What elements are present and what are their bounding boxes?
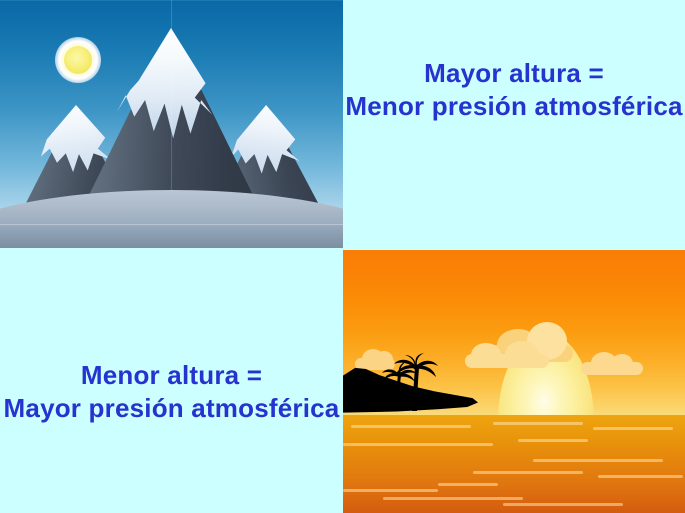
wave-streak (351, 425, 471, 428)
caption-high-altitude-line2: Menor presión atmosférica (343, 90, 685, 123)
wave-streak (438, 483, 498, 486)
mountain-ground (0, 190, 343, 248)
palm-tree-right-icon (393, 353, 439, 415)
caption-low-altitude-line1: Menor altura = (0, 359, 343, 392)
wave-streak (598, 475, 683, 478)
wave-streak (518, 439, 588, 442)
beach-sunset-image (343, 250, 685, 513)
sea (343, 415, 685, 513)
caption-panel-bottom-left: Menor altura = Mayor presión atmosférica (0, 248, 343, 513)
caption-low-altitude: Menor altura = Mayor presión atmosférica (0, 359, 343, 425)
caption-high-altitude-line1: Mayor altura = (343, 57, 685, 90)
wave-streak (383, 497, 523, 500)
wave-streak (343, 489, 438, 492)
cloud-center-lower (465, 354, 549, 368)
wave-streak (343, 443, 493, 446)
wave-streak (593, 427, 673, 430)
ground-shadow (0, 222, 343, 248)
wave-streak (503, 503, 623, 506)
caption-panel-top-right: Mayor altura = Menor presión atmosférica (343, 0, 685, 250)
cloud-right (581, 362, 643, 375)
ground-highlight-line (0, 224, 343, 225)
wave-streak (493, 422, 583, 425)
mountain-scene-image (0, 0, 343, 248)
wave-streak (533, 459, 663, 462)
slide-canvas: Mayor altura = Menor presión atmosférica… (0, 0, 685, 513)
wave-streak (473, 471, 583, 474)
caption-low-altitude-line2: Mayor presión atmosférica (0, 392, 343, 425)
caption-high-altitude: Mayor altura = Menor presión atmosférica (343, 57, 685, 123)
